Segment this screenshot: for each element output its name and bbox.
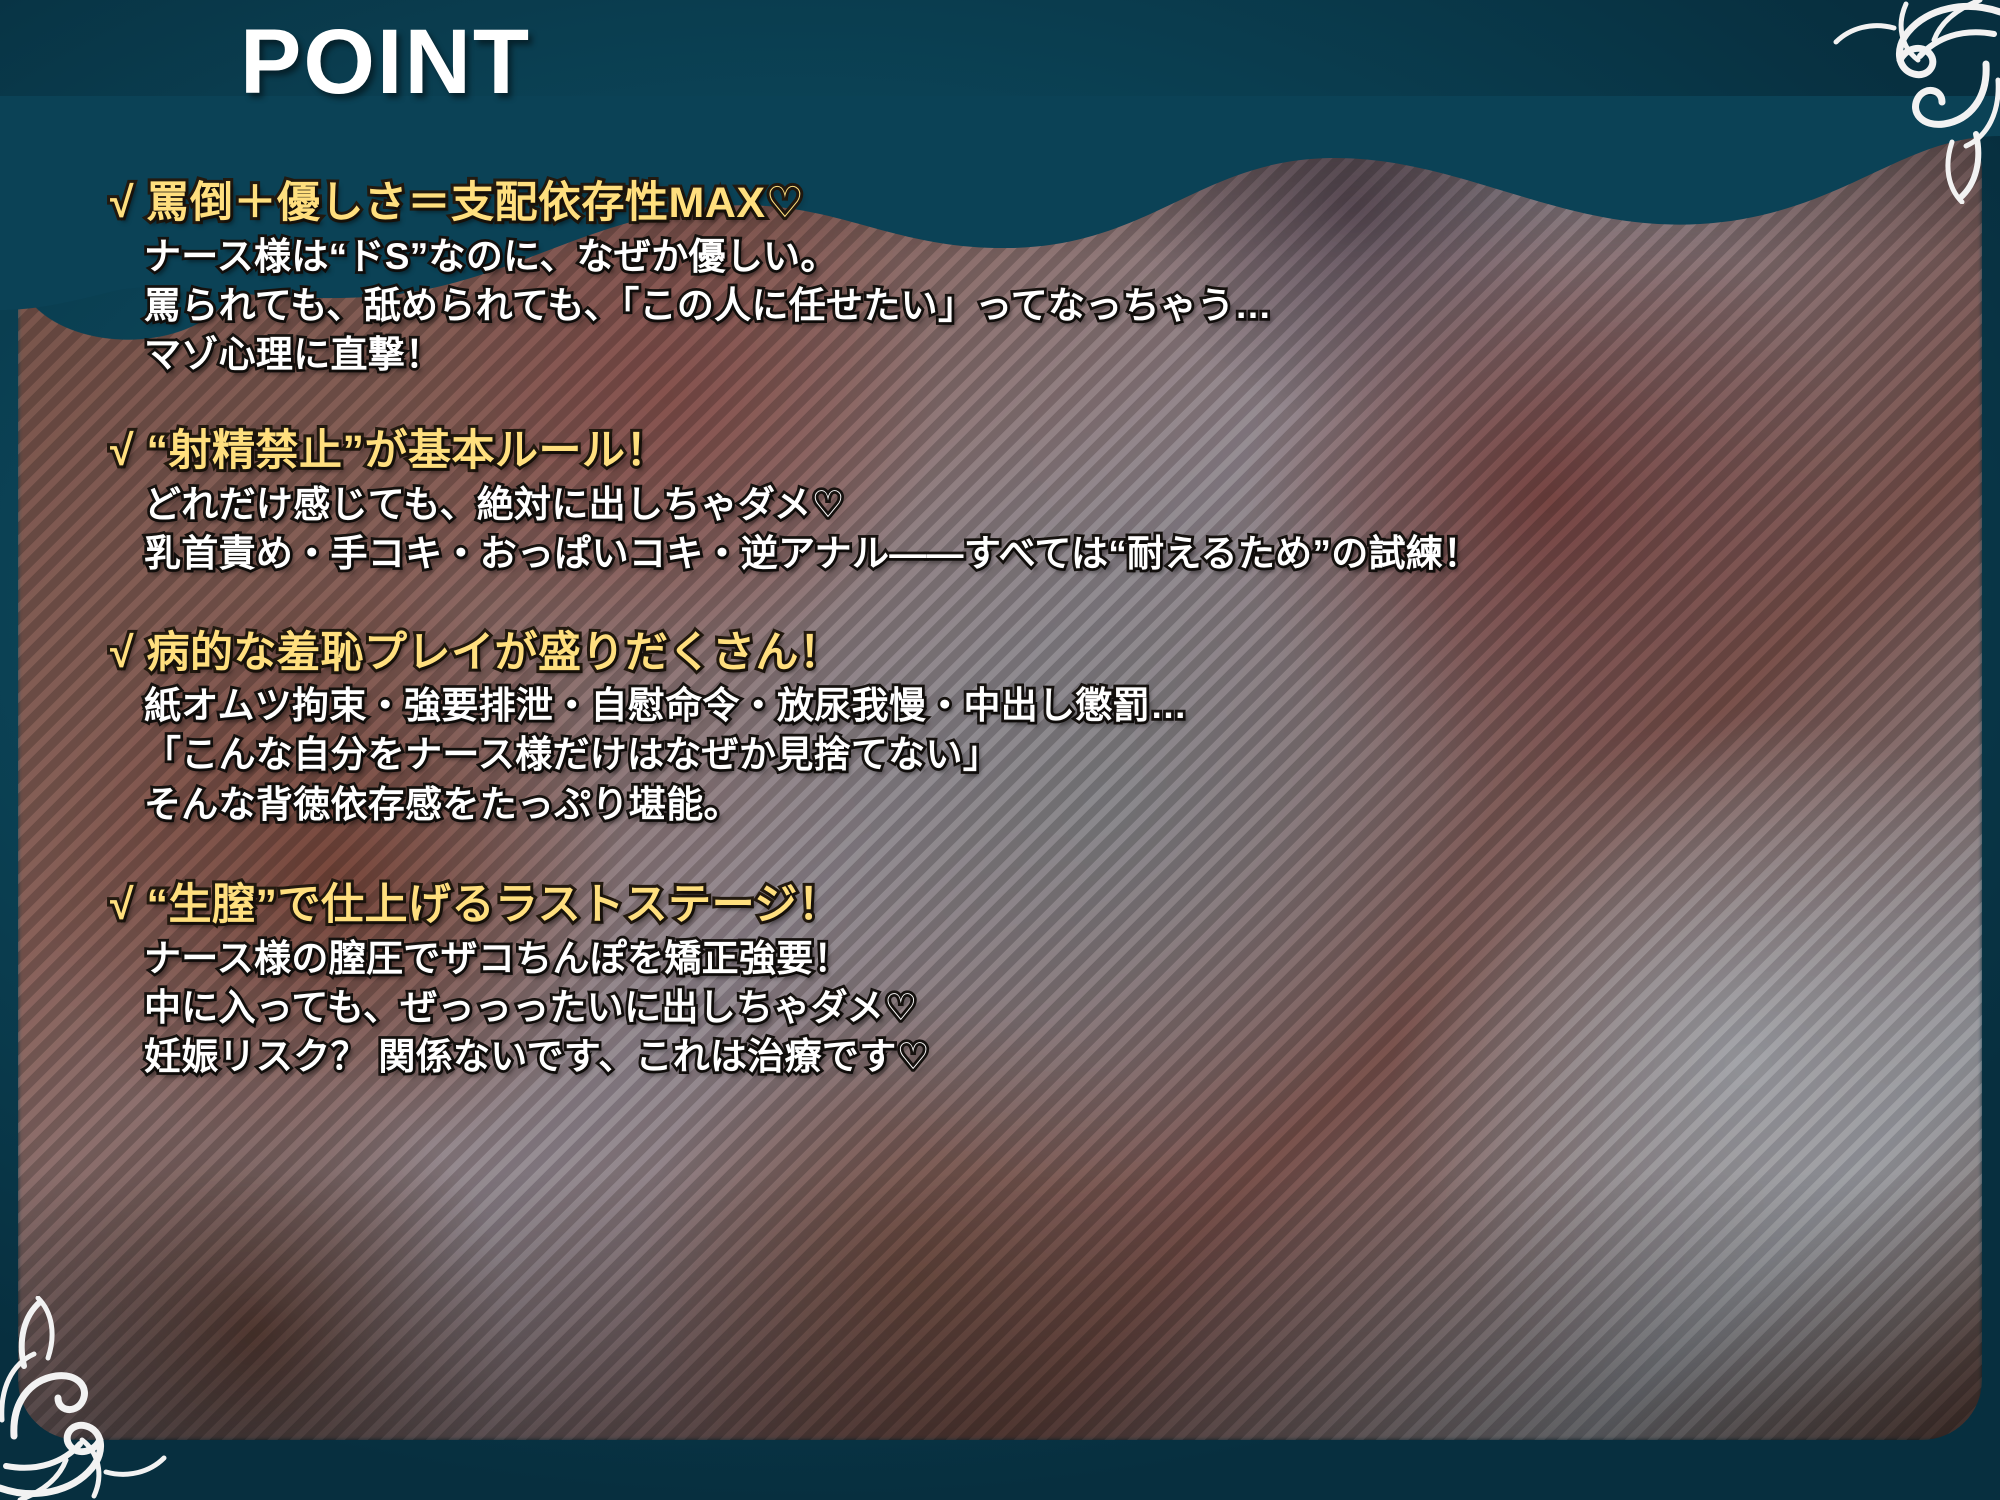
point-line: 罵られても、舐められても、「この人に任せたい」ってなっちゃう…: [144, 281, 1940, 330]
point-line: 乳首責め・手コキ・おっぱいコキ・逆アナル――すべては“耐えるため”の試練！: [144, 529, 1940, 578]
point-heading: √ 罵倒＋優しさ＝支配依存性MAX♡: [110, 175, 1940, 232]
point-line: ナース様は“ドS”なのに、なぜか優しい。: [144, 232, 1940, 281]
points-list: √ 罵倒＋優しさ＝支配依存性MAX♡ ナース様は“ドS”なのに、なぜか優しい。 …: [110, 175, 1940, 1081]
point-line: どれだけ感じても、絶対に出しちゃダメ♡: [144, 480, 1940, 529]
point-line: 紙オムツ拘束・強要排泄・自慰命令・放尿我慢・中出し懲罰…: [144, 681, 1940, 730]
point-line: マゾ心理に直撃！: [144, 330, 1940, 379]
point-line: 妊娠リスク？ 関係ないです、これは治療です♡: [144, 1032, 1940, 1081]
point-line: ナース様の膣圧でザコちんぽを矯正強要！: [144, 934, 1940, 983]
point-block: √ “射精禁止”が基本ルール！ どれだけ感じても、絶対に出しちゃダメ♡ 乳首責め…: [110, 423, 1940, 578]
point-block: √ “生膣”で仕上げるラストステージ！ ナース様の膣圧でザコちんぽを矯正強要！ …: [110, 877, 1940, 1081]
point-block: √ 罵倒＋優しさ＝支配依存性MAX♡ ナース様は“ドS”なのに、なぜか優しい。 …: [110, 175, 1940, 379]
point-slide: POINT: [0, 0, 2000, 1500]
point-line: そんな背徳依存感をたっぷり堪能。: [144, 780, 1940, 829]
point-heading: √ “射精禁止”が基本ルール！: [110, 423, 1940, 480]
point-heading: √ “生膣”で仕上げるラストステージ！: [110, 877, 1940, 934]
page-title: POINT: [240, 10, 531, 115]
point-line: 中に入っても、ぜっっったいに出しちゃダメ♡: [144, 983, 1940, 1032]
point-line: 「こんな自分をナース様だけはなぜか見捨てない」: [144, 730, 1940, 779]
point-heading: √ 病的な羞恥プレイが盛りだくさん！: [110, 625, 1940, 682]
point-block: √ 病的な羞恥プレイが盛りだくさん！ 紙オムツ拘束・強要排泄・自慰命令・放尿我慢…: [110, 625, 1940, 829]
